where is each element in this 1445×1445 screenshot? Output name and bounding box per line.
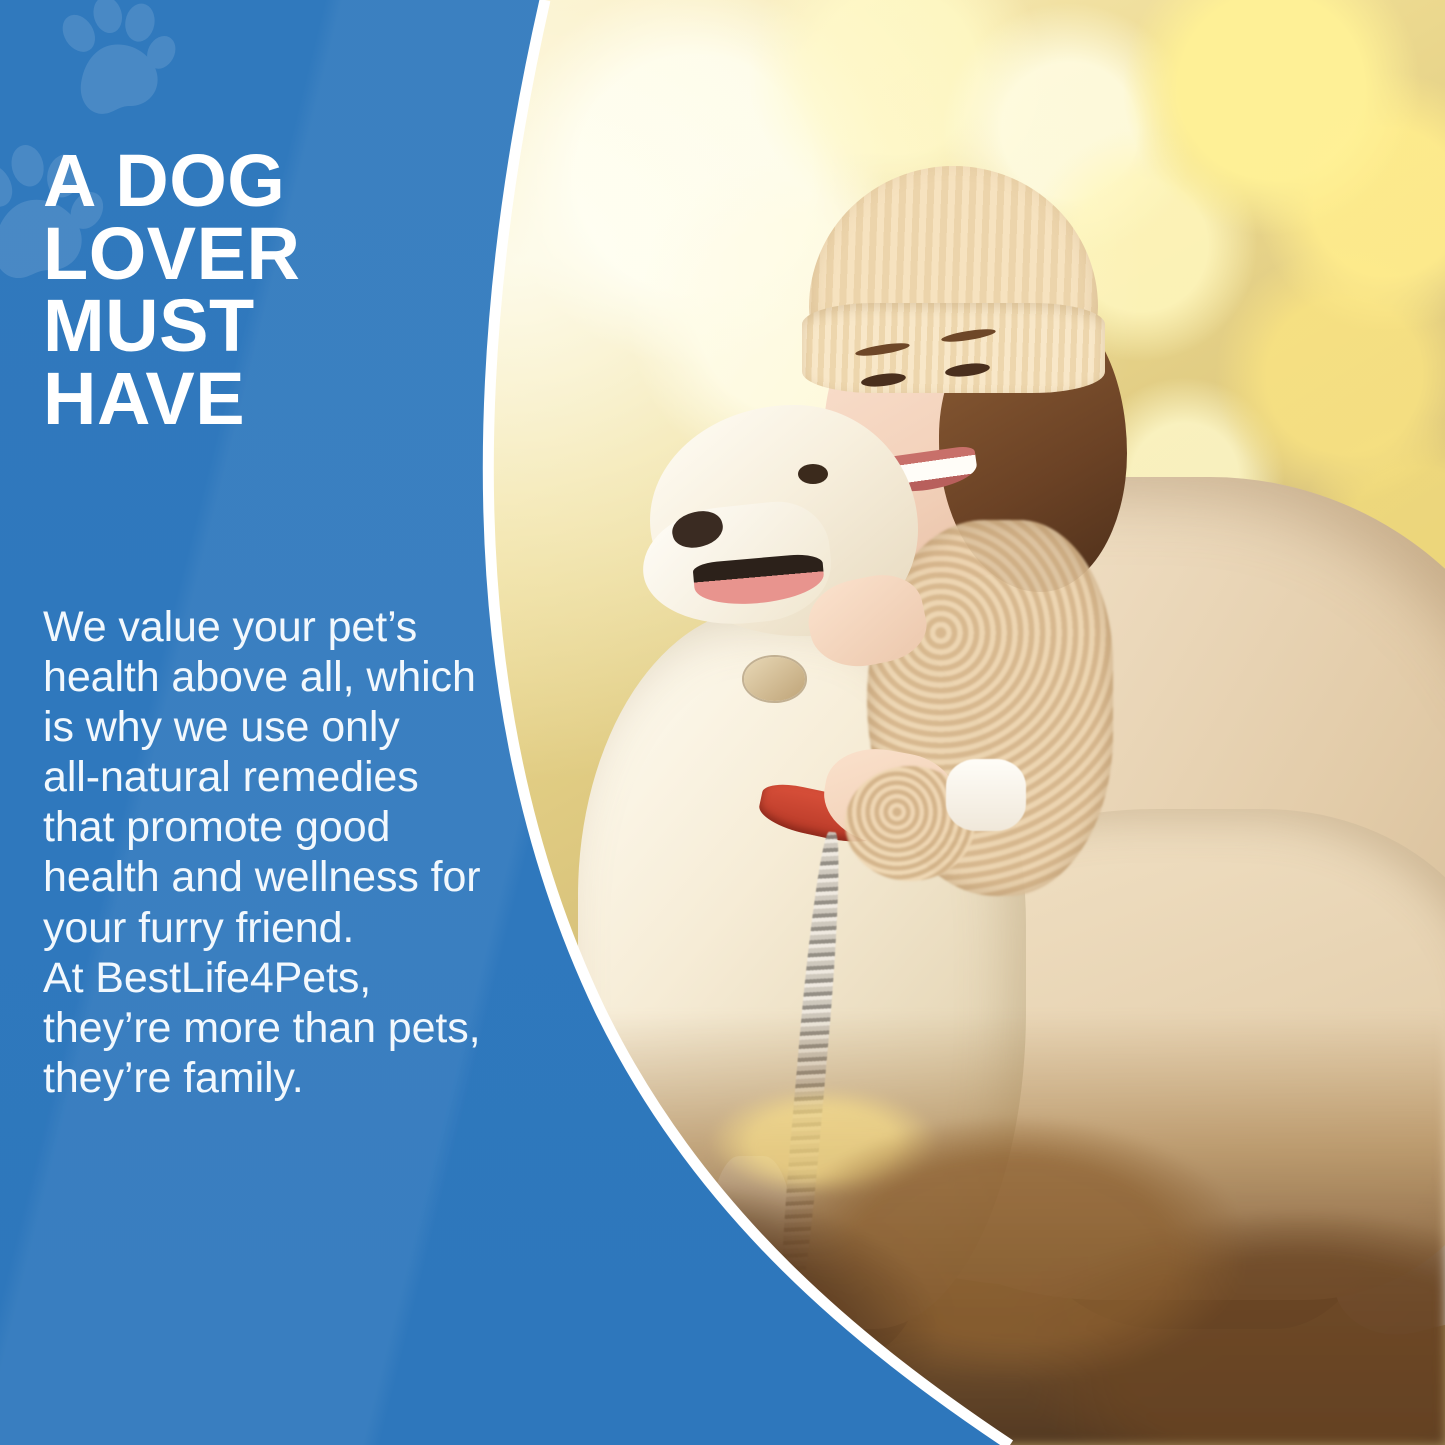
body-line: that promote good xyxy=(43,802,563,852)
promo-banner: A DOG LOVER MUST HAVE We value your pet’… xyxy=(0,0,1445,1445)
headline-line-3: MUST xyxy=(43,290,473,363)
white-sleeve-cuff xyxy=(946,759,1025,831)
body-line: your furry friend. xyxy=(43,903,563,953)
body-line: all-natural remedies xyxy=(43,752,563,802)
headline-line-2: LOVER xyxy=(43,218,473,291)
body-line: they’re more than pets, xyxy=(43,1003,563,1053)
body-line: is why we use only xyxy=(43,702,563,752)
body-line: health above all, which xyxy=(43,652,563,702)
body-line: they’re family. xyxy=(43,1053,563,1103)
body-line: At BestLife4Pets, xyxy=(43,953,563,1003)
dog-eye xyxy=(798,464,828,484)
headline: A DOG LOVER MUST HAVE xyxy=(43,145,473,435)
paw-print-icon xyxy=(38,0,191,134)
body-copy: We value your pet’s health above all, wh… xyxy=(43,602,563,1103)
headline-line-4: HAVE xyxy=(43,363,473,436)
body-line: health and wellness for xyxy=(43,852,563,902)
wristwatch xyxy=(744,657,805,700)
headline-line-1: A DOG xyxy=(43,145,473,218)
beanie-brim xyxy=(802,303,1105,393)
body-line: We value your pet’s xyxy=(43,602,563,652)
